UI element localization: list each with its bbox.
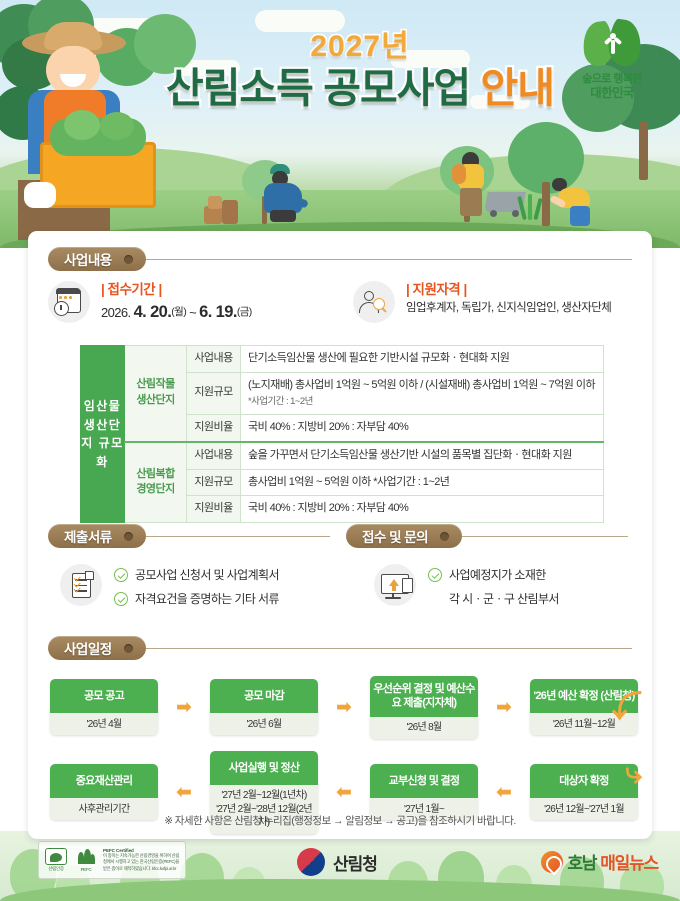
poster-root: 2027년 산림소득 공모사업 안내 숲으로 행복한 대한민국 사업내용 (0, 0, 680, 901)
table-value: 숲을 가꾸면서 단기소득임산물 생산기반 시설의 품목별 집단화ㆍ현대화 지원 (241, 442, 604, 469)
table-key: 지원비율 (187, 414, 241, 441)
schedule-step-title: 중요재산관리 (50, 764, 158, 798)
check-circle-icon (114, 592, 128, 606)
table-value-note: *사업기간 : 1~2년 (248, 395, 596, 409)
section-documents: 제출서류 공모사업 신청서 및 사업계획서 자격요 (48, 524, 330, 609)
grass-decoration (516, 196, 546, 222)
poster-year: 2027년 (150, 30, 570, 63)
table-group-label: 임산물 생산단지 규모화 (81, 346, 125, 523)
schedule-step-date: '27년 2월~12월(1년차) (221, 789, 306, 803)
forest-brand-logo: 숲으로 행복한 대한민국 (560, 20, 664, 100)
program-details-table: 임산물 생산단지 규모화 산림작물 생산단지 사업내용 단기소득임산물 생산에 … (80, 345, 604, 523)
arrow-left-icon: ⬅ (478, 783, 530, 802)
schedule-step: 교부신청 및 결정 '27년 1월~ (370, 764, 478, 820)
arrow-right-icon: ➡ (158, 698, 210, 717)
person-search-icon (353, 281, 395, 323)
schedule-step: 공모 마감 '26년 6월 (210, 679, 318, 735)
bending-worker-illustration (548, 178, 604, 230)
document-checklist-icon (60, 564, 102, 606)
schedule-step-title: 대상자 확정 (530, 764, 638, 798)
period-end-date: 6. 19. (199, 303, 237, 321)
table-value: 국비 40% : 지방비 20% : 자부담 40% (241, 496, 604, 523)
section-header-business-content: 사업내용 (48, 247, 632, 271)
info-label-period: | 접수기간 | (101, 281, 252, 299)
pefc-logo-icon: PEFC (73, 849, 99, 872)
arrow-right-icon: ➡ (478, 698, 530, 717)
forest-logo-line1: 숲으로 행복한 (560, 73, 664, 86)
period-year: 2026. (101, 305, 131, 320)
period-separator: ~ (189, 305, 196, 320)
arrow-right-icon: ➡ (318, 698, 370, 717)
schedule-step-date: '26년 8월 (370, 717, 478, 739)
news-outlet-logo: 호남 매일뉴스 (541, 849, 658, 874)
schedule-step-title: 우선순위 결정 및 예산수요 제출(지자체) (370, 676, 478, 717)
section-dot-icon (124, 644, 133, 653)
inquiry-list: 사업예정지가 소재한 각 시ㆍ군ㆍ구 산림부서 (428, 564, 559, 609)
info-value-period: 2026. 4. 20.(월) ~ 6. 19.(금) (101, 300, 252, 325)
section-label-business-content: 사업내용 (64, 249, 112, 269)
schedule-step-date: '26년 4월 (50, 713, 158, 735)
section-header-schedule: 사업일정 (48, 636, 632, 660)
schedule-step-title: 교부신청 및 결정 (370, 764, 478, 798)
document-item-text: 자격요건을 증명하는 기타 서류 (135, 591, 279, 608)
monitor-upload-icon (374, 564, 416, 606)
section-dot-icon (124, 255, 133, 264)
flow-turn-down-icon: ⤵ (612, 693, 642, 723)
section-label-schedule: 사업일정 (64, 638, 112, 658)
schedule-step-title: 사업실행 및 정산 (210, 751, 318, 785)
inquiry-item-line1: 사업예정지가 소재한 (449, 567, 546, 584)
news-mark-icon (541, 851, 563, 873)
document-item-text: 공모사업 신청서 및 사업계획서 (135, 567, 279, 584)
forest-heart-tree-icon (583, 20, 641, 70)
content-card: 사업내용 | 접수기간 | 2026. 4. 20.(월) ~ (28, 231, 652, 839)
log-pile-illustration (204, 196, 250, 226)
cert-text-block: PEFC Certified 이 종이는 지속가능한 산림경영을 위하여 산림청… (103, 848, 181, 872)
schedule-step: 우선순위 결정 및 예산수요 제출(지자체) '26년 8월 (370, 676, 478, 739)
schedule-step: 중요재산관리 사후관리기간 (50, 764, 158, 820)
section-rule (460, 536, 628, 537)
schedule-step: 대상자 확정 '26년 12월~'27년 1월 (530, 764, 638, 820)
taegeuk-icon (297, 848, 325, 876)
table-subgroup-label: 산림작물 생산단지 (125, 346, 187, 442)
section-pill: 사업일정 (48, 636, 146, 660)
section-header-documents: 제출서류 (48, 524, 330, 548)
schedule-step-title: 공모 공고 (50, 679, 158, 713)
section-label-inquiry: 접수 및 문의 (362, 526, 428, 546)
table-key: 사업내용 (187, 346, 241, 373)
poster-title-text: 산림소득 공모사업 (166, 65, 470, 111)
period-end-day: (금) (237, 306, 252, 318)
section-rule (144, 536, 330, 537)
list-item: 공모사업 신청서 및 사업계획서 (114, 567, 279, 584)
table-key: 사업내용 (187, 442, 241, 469)
cert-body: 이 종이는 지속가능한 산림경영을 위하여 산림청에서 시행하고 있는 한국산림… (103, 853, 181, 872)
flow-turn-left-icon: ⤷ (625, 759, 642, 789)
schedule-step-date: '26년 6월 (210, 713, 318, 735)
info-item-eligibility: | 지원자격 | 임업후계자, 독립가, 신지식임업인, 생산자단체 (353, 281, 636, 325)
schedule-step: 공모 공고 '26년 4월 (50, 679, 158, 735)
check-circle-icon (114, 568, 128, 582)
table-row: 임산물 생산단지 규모화 산림작물 생산단지 사업내용 단기소득임산물 생산에 … (81, 346, 604, 373)
table-key: 지원비율 (187, 496, 241, 523)
documents-body: 공모사업 신청서 및 사업계획서 자격요건을 증명하는 기타 서류 (48, 564, 330, 609)
section-rule (144, 259, 632, 260)
check-circle-icon (428, 568, 442, 582)
calendar-clock-icon (48, 281, 90, 323)
table-value: 국비 40% : 지방비 20% : 자부담 40% (241, 414, 604, 441)
table-value: 단기소득임산물 생산에 필요한 기반시설 규모화ㆍ현대화 지원 (241, 346, 604, 373)
forest-logo-line2: 대한민국 (560, 86, 664, 100)
section-inquiry: 접수 및 문의 사업예정지가 소재한 각 시ㆍ군ㆍ구 산림부서 (346, 524, 628, 609)
pefc-certification-box: 산림인증 PEFC PEFC Certified 이 종이는 지속가능한 산림경… (38, 841, 186, 879)
table-value: 총사업비 1억원 ~ 5억원 이하 *사업기간 : 1~2년 (241, 469, 604, 496)
inquiry-item-line2: 각 시ㆍ군ㆍ구 산림부서 (449, 591, 559, 608)
section-pill: 접수 및 문의 (346, 524, 462, 548)
schedule-step-title: 공모 마감 (210, 679, 318, 713)
farmer-illustration (4, 30, 174, 240)
documents-list: 공모사업 신청서 및 사업계획서 자격요건을 증명하는 기타 서류 (114, 564, 279, 609)
info-row: | 접수기간 | 2026. 4. 20.(월) ~ 6. 19.(금) | 지… (48, 281, 636, 325)
schedule-flow-row-1: 공모 공고 '26년 4월 ➡ 공모 마감 '26년 6월 ➡ 우선순위 결정 … (50, 676, 638, 739)
worker-illustration (256, 164, 316, 226)
arrow-left-icon: ⬅ (318, 783, 370, 802)
poster-title-accent: 안내 (481, 65, 554, 111)
news-name-part1: 호남 (567, 849, 596, 874)
arrow-left-icon: ⬅ (158, 783, 210, 802)
section-pill: 사업내용 (48, 247, 146, 271)
cloud-decoration (255, 10, 345, 32)
list-item: 자격요건을 증명하는 기타 서류 (114, 591, 279, 608)
cert-mark-label-2: PEFC (73, 867, 99, 872)
cert-mark-label-1: 산림인증 (43, 866, 69, 872)
section-header-inquiry: 접수 및 문의 (346, 524, 628, 548)
period-start-date: 4. 20. (134, 303, 172, 321)
info-item-period: | 접수기간 | 2026. 4. 20.(월) ~ 6. 19.(금) (48, 281, 353, 325)
korea-forest-service-logo: 산림청 (297, 848, 377, 876)
footer-bar: 산림인증 PEFC PEFC Certified 이 종이는 지속가능한 산림경… (0, 831, 680, 901)
poster-main-title: 산림소득 공모사업 안내 (150, 65, 570, 112)
table-key: 지원규모 (187, 469, 241, 496)
table-key: 지원규모 (187, 372, 241, 414)
table-row: 산림복합 경영단지 사업내용 숲을 가꾸면서 단기소득임산물 생산기반 시설의 … (81, 442, 604, 469)
info-label-eligibility: | 지원자격 | (406, 281, 611, 299)
section-dot-icon (440, 532, 449, 541)
list-item: 각 시ㆍ군ㆍ구 산림부서 (428, 591, 559, 608)
info-value-eligibility: 임업후계자, 독립가, 신지식임업인, 생산자단체 (406, 300, 611, 317)
schedule-footnote: ※ 자세한 사항은 산림청 누리집(행정정보 → 알림정보 → 공고)을 참조하… (28, 813, 652, 828)
korea-forest-cert-icon: 산림인증 (43, 848, 69, 872)
hero-banner: 2027년 산림소득 공모사업 안내 숲으로 행복한 대한민국 (0, 0, 680, 248)
poster-title-block: 2027년 산림소득 공모사업 안내 (150, 30, 570, 112)
section-rule (144, 648, 632, 649)
section-dot-icon (124, 532, 133, 541)
news-name-part2: 매일뉴스 (600, 849, 658, 874)
section-label-documents: 제출서류 (64, 526, 112, 546)
section-pill: 제출서류 (48, 524, 146, 548)
period-start-day: (월) (171, 306, 186, 318)
inquiry-body: 사업예정지가 소재한 각 시ㆍ군ㆍ구 산림부서 (346, 564, 628, 609)
table-subgroup-label: 산림복합 경영단지 (125, 442, 187, 523)
table-value-text: (노지재배) 총사업비 1억원 ~ 5억원 이하 / (시설재배) 총사업비 1… (248, 379, 595, 391)
gov-agency-name: 산림청 (333, 850, 377, 875)
table-value: (노지재배) 총사업비 1억원 ~ 5억원 이하 / (시설재배) 총사업비 1… (241, 372, 604, 414)
list-item: 사업예정지가 소재한 (428, 567, 559, 584)
